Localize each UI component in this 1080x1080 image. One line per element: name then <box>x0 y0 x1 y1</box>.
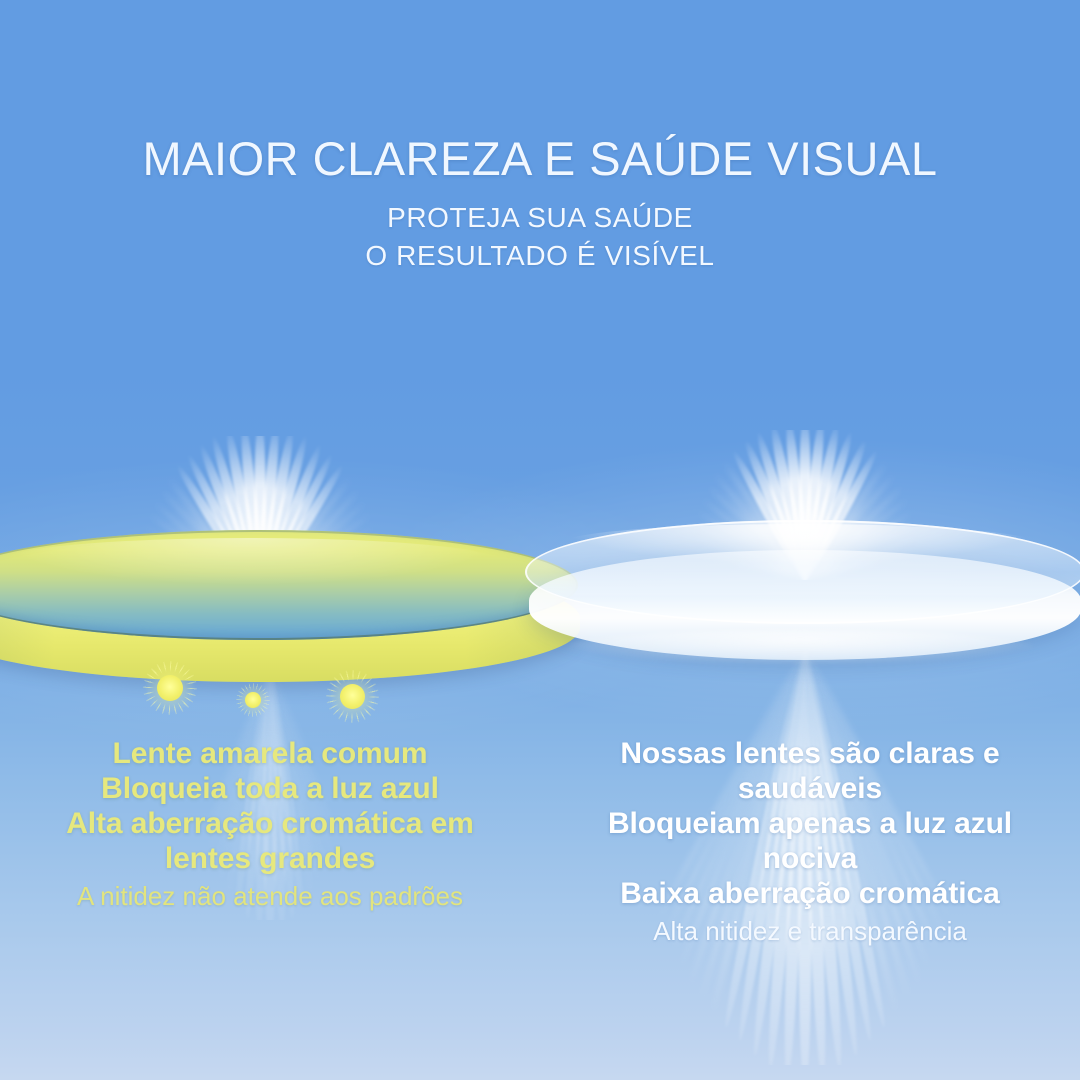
clear-lens-underglow <box>565 630 1035 664</box>
clear-lens-highlight <box>559 524 1039 564</box>
glow-dot-core <box>340 684 365 709</box>
caption-left-line-2: Bloqueia toda a luz azul <box>14 771 526 806</box>
caption-left-footnote: A nitidez não atende aos padrões <box>14 881 526 912</box>
clear-lens-graphic <box>525 520 1080 680</box>
caption-right-line-3: Bloqueiam apenas a luz azul <box>554 806 1066 841</box>
caption-left-line-4: lentes grandes <box>14 841 526 876</box>
subtitle-line-2: O RESULTADO É VISÍVEL <box>0 237 1080 275</box>
caption-right-line-1: Nossas lentes são claras e <box>554 736 1066 771</box>
yellow-lens-gloss <box>0 538 500 584</box>
page-title: MAIOR CLAREZA E SAÚDE VISUAL <box>0 134 1080 185</box>
caption-column-clear-lens: Nossas lentes são claras e saudáveis Blo… <box>540 736 1080 948</box>
caption-right-line-5: Baixa aberração cromática <box>554 876 1066 911</box>
promo-banner: MAIOR CLAREZA E SAÚDE VISUAL PROTEJA SUA… <box>0 0 1080 1080</box>
caption-right-line-4: nociva <box>554 841 1066 876</box>
caption-left-line-3: Alta aberração cromática em <box>14 806 526 841</box>
glow-dot-3 <box>340 684 365 709</box>
caption-column-yellow-lens: Lente amarela comum Bloqueia toda a luz … <box>0 736 540 948</box>
glow-dot-1 <box>157 675 183 701</box>
comparison-captions: Lente amarela comum Bloqueia toda a luz … <box>0 736 1080 948</box>
glow-dot-2 <box>245 692 261 708</box>
caption-right-line-2: saudáveis <box>554 771 1066 806</box>
caption-left-line-1: Lente amarela comum <box>14 736 526 771</box>
yellow-lens-graphic <box>0 530 580 710</box>
glow-dot-core <box>157 675 183 701</box>
caption-right-footnote: Alta nitidez e transparência <box>554 916 1066 947</box>
headline-block: MAIOR CLAREZA E SAÚDE VISUAL PROTEJA SUA… <box>0 134 1080 275</box>
glow-dot-core <box>245 692 261 708</box>
subtitle-line-1: PROTEJA SUA SAÚDE <box>0 199 1080 237</box>
